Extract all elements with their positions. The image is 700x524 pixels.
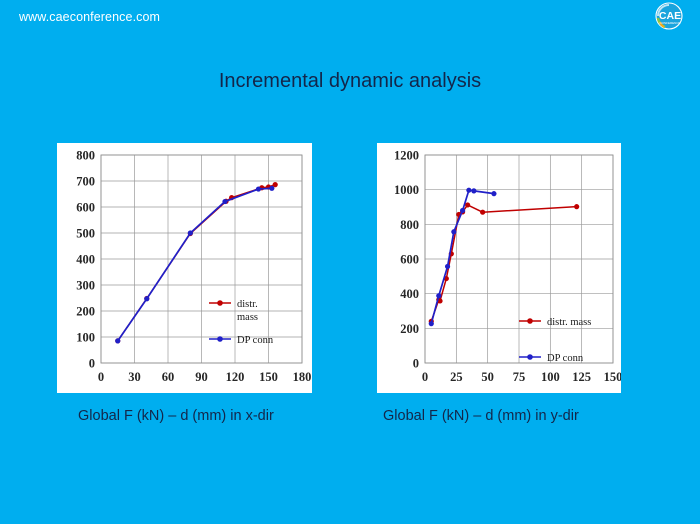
data-point: [445, 264, 450, 269]
legend-label: DP conn: [237, 335, 274, 346]
data-point: [222, 199, 227, 204]
y-tick-label: 800: [400, 218, 419, 232]
y-tick-label: 200: [76, 305, 95, 319]
x-tick-label: 90: [195, 370, 208, 384]
data-point: [471, 188, 476, 193]
y-tick-label: 400: [400, 287, 419, 301]
y-tick-label: 1000: [394, 183, 419, 197]
caption-y-dir: Global F (kN) – d (mm) in y-dir: [383, 408, 579, 424]
series-line-distr-mass: [431, 205, 576, 321]
y-tick-label: 300: [76, 279, 95, 293]
legend-marker: [217, 300, 223, 306]
x-tick-label: 25: [450, 370, 463, 384]
y-tick-label: 0: [89, 357, 95, 371]
cae-logo-icon: CAE CONFERENCE: [650, 2, 688, 32]
data-point: [115, 338, 120, 343]
chart-y-dir: 0200400600800100012000255075100125150dis…: [377, 143, 621, 393]
legend-marker: [527, 318, 533, 324]
y-tick-label: 700: [76, 175, 95, 189]
data-point: [460, 208, 465, 213]
y-tick-label: 800: [76, 149, 95, 163]
data-point: [451, 229, 456, 234]
y-tick-label: 400: [76, 253, 95, 267]
data-point: [429, 321, 434, 326]
legend-label: DP conn: [547, 353, 584, 364]
x-tick-label: 60: [162, 370, 175, 384]
y-tick-label: 200: [400, 322, 419, 336]
data-point: [480, 210, 485, 215]
y-tick-label: 100: [76, 331, 95, 345]
x-tick-label: 180: [293, 370, 312, 384]
x-tick-label: 120: [226, 370, 245, 384]
x-tick-label: 30: [128, 370, 141, 384]
chart-legend: distr.massDP conn: [209, 299, 274, 346]
x-tick-label: 125: [572, 370, 591, 384]
x-tick-label: 0: [422, 370, 428, 384]
y-tick-label: 500: [76, 227, 95, 241]
data-point: [188, 230, 193, 235]
data-point: [256, 186, 261, 191]
svg-text:CONFERENCE: CONFERENCE: [659, 21, 680, 25]
legend-label: mass: [237, 312, 258, 323]
data-point: [465, 202, 470, 207]
legend-label: distr. mass: [547, 317, 591, 328]
y-tick-label: 0: [413, 357, 419, 371]
data-point: [436, 293, 441, 298]
x-tick-label: 150: [259, 370, 278, 384]
data-point: [491, 191, 496, 196]
y-tick-label: 1200: [394, 149, 419, 163]
chart-panel-y-dir: 0200400600800100012000255075100125150dis…: [377, 143, 621, 393]
y-tick-label: 600: [76, 201, 95, 215]
y-tick-label: 600: [400, 253, 419, 267]
data-point: [144, 296, 149, 301]
data-point: [466, 188, 471, 193]
x-tick-label: 150: [604, 370, 621, 384]
data-point: [574, 204, 579, 209]
x-tick-label: 0: [98, 370, 104, 384]
page-title: Incremental dynamic analysis: [0, 70, 700, 93]
chart-x-dir: 0100200300400500600700800030609012015018…: [57, 143, 312, 393]
chart-panel-x-dir: 0100200300400500600700800030609012015018…: [57, 143, 312, 393]
data-point: [269, 186, 274, 191]
legend-marker: [217, 336, 223, 342]
legend-label: distr.: [237, 299, 258, 310]
chart-legend: distr. massDP conn: [519, 317, 591, 364]
x-tick-label: 50: [481, 370, 494, 384]
x-tick-label: 75: [513, 370, 526, 384]
caption-x-dir: Global F (kN) – d (mm) in x-dir: [78, 408, 274, 424]
legend-marker: [527, 354, 533, 360]
site-url: www.caeconference.com: [19, 10, 160, 24]
x-tick-label: 100: [541, 370, 560, 384]
